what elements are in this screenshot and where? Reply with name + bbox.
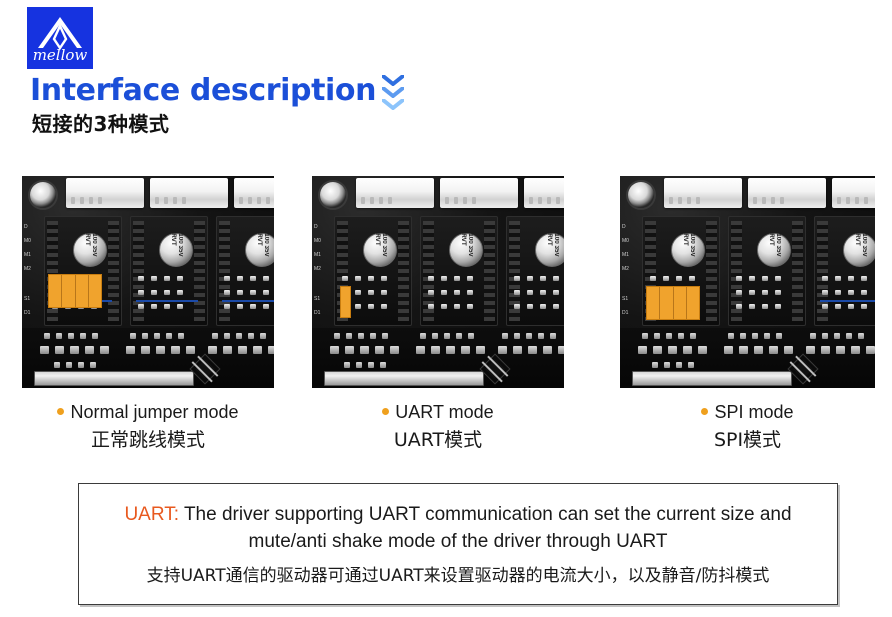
capacitor-y: 100 35V RVT [159,233,193,267]
jumper-pins-z-row1 [514,276,559,281]
mcu-chip [787,353,818,384]
component-field [620,328,875,388]
bullet-icon [382,408,389,415]
board-uart: 100 35V RVT 100 35V RVT 100 35V RVT [312,176,564,388]
chevron-down-icon [382,72,404,110]
page-title: Interface description [30,76,376,106]
note-english-text: UART: The driver supporting UART communi… [93,502,823,556]
page-subtitle: 短接的3种模式 [32,108,169,137]
bullet-icon [57,408,64,415]
display-ribbon-connector [324,371,484,386]
driver-socket-y: 100 35V RVT [728,216,806,326]
note-chinese-text: 支持UART通信的驱动器可通过UART来设置驱动器的电流大小，以及静音/防抖模式 [147,561,770,586]
smd-row-d [724,346,793,354]
smd-row-g [652,362,694,368]
jumper-pins-z-row3 [514,304,559,309]
smd-row-a [642,333,696,339]
jumper-pins-y-row2 [428,290,473,295]
smd-row-e [502,333,556,339]
smd-row-f [498,346,564,354]
jumper-pins-y-row3 [736,304,781,309]
jumper-cap-group-spi-x[interactable] [646,286,700,320]
bullet-icon [701,408,708,415]
jumper-pins-z-row2 [224,290,269,295]
motor-connector-z [524,178,564,208]
svg-text:mellow: mellow [33,46,88,64]
motor-connector-z [234,178,274,208]
smd-row-f [806,346,875,354]
jumper-pins-z-row2 [514,290,559,295]
display-ribbon-connector [632,371,792,386]
smd-row-d [416,346,485,354]
jumper-cap-uart-x[interactable] [340,286,351,318]
mounting-hole-icon [320,182,346,208]
jumper-pins-y-row2 [138,290,183,295]
caption-normal-jumper: Normal jumper mode 正常跳线模式 [22,402,274,452]
silk-stripe-z [820,300,875,302]
smd-row-g [54,362,96,368]
jumper-pins-x-row1 [650,276,695,281]
jumper-pins-y-row3 [428,304,473,309]
uart-note-box: UART: The driver supporting UART communi… [78,483,838,605]
driver-socket-x: 100 35V RVT [44,216,122,326]
smd-row-e [810,333,864,339]
component-field [312,328,564,388]
smd-row-a [334,333,388,339]
mounting-hole-icon [30,182,56,208]
smd-row-g [344,362,386,368]
silk-stripe-z [222,300,274,302]
mcu-chip [479,353,510,384]
driver-socket-z: 100 35V RVT [506,216,564,326]
mellow-logo: mellow [27,7,93,69]
motor-connector-y [440,178,518,208]
smd-row-d [126,346,195,354]
driver-socket-y: 100 35V RVT [420,216,498,326]
smd-row-b [330,346,399,354]
capacitor-z: 100 35V RVT [535,233,564,267]
capacitor-z: 100 35V RVT [245,233,274,267]
pcb-image-uart: 100 35V RVT 100 35V RVT 100 35V RVT [312,176,564,388]
jumper-pins-y-row2 [736,290,781,295]
board-spi: 100 35V RVT 100 35V RVT 100 35V RVT [620,176,875,388]
jumper-pins-z-row1 [822,276,867,281]
jumper-cap-group-x[interactable] [48,274,102,308]
driver-socket-z: 100 35V RVT [814,216,875,326]
capacitor-x: 100 35V RVT [73,233,107,267]
display-ribbon-connector [34,371,194,386]
jumper-pins-y-row1 [138,276,183,281]
jumper-pins-z-row1 [224,276,269,281]
motor-connector-z [832,178,875,208]
note-keyword: UART: [124,504,179,525]
page-root: mellow Interface description 短接的3种模式 100… [0,0,892,617]
capacitor-z: 100 35V RVT [843,233,875,267]
capacitor-y: 100 35V RVT [449,233,483,267]
smd-row-c [420,333,474,339]
board-normal-jumper: 100 35V RVT 100 35V RVT 100 35V RVT [22,176,274,388]
motor-connector-x [66,178,144,208]
smd-row-f [208,346,274,354]
motor-connector-y [150,178,228,208]
note-english-body: The driver supporting UART communication… [179,504,792,552]
jumper-pins-z-row3 [224,304,269,309]
motor-connector-x [664,178,742,208]
capacitor-x: 100 35V RVT [363,233,397,267]
smd-row-c [130,333,184,339]
smd-row-c [728,333,782,339]
caption-uart: UART mode UART模式 [312,402,564,452]
jumper-pins-y-row1 [736,276,781,281]
mcu-chip [189,353,220,384]
jumper-pins-z-row3 [822,304,867,309]
jumper-pins-z-row2 [822,290,867,295]
pcb-image-normal-jumper: 100 35V RVT 100 35V RVT 100 35V RVT [22,176,274,388]
jumper-pins-y-row3 [138,304,183,309]
jumper-pins-y-row1 [428,276,473,281]
capacitor-y: 100 35V RVT [757,233,791,267]
motor-connector-y [748,178,826,208]
driver-socket-y: 100 35V RVT [130,216,208,326]
motor-connector-x [356,178,434,208]
smd-row-a [44,333,98,339]
silk-stripe-y [136,300,198,302]
smd-row-b [638,346,707,354]
smd-row-b [40,346,109,354]
component-field [22,328,274,388]
caption-spi: SPI mode SPI模式 [620,402,875,452]
jumper-pins-x-row1 [342,276,387,281]
smd-row-e [212,333,266,339]
pcb-image-spi: 100 35V RVT 100 35V RVT 100 35V RVT [620,176,875,388]
driver-socket-z: 100 35V RVT [216,216,274,326]
capacitor-x: 100 35V RVT [671,233,705,267]
mounting-hole-icon [628,182,654,208]
page-title-row: Interface description [30,72,404,110]
